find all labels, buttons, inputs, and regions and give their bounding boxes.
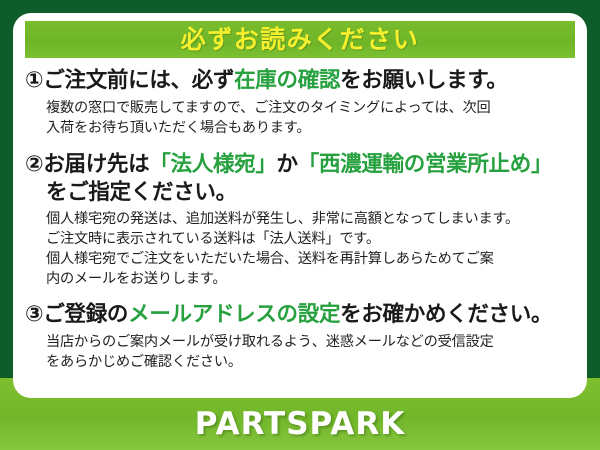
notice-item-1-head-part-3: をお願いします。 bbox=[340, 68, 507, 93]
notice-item-1-number: ① bbox=[25, 68, 43, 93]
notice-item-3-heading: ③ご登録のメールアドレスの設定をお確かめください。 bbox=[25, 301, 577, 329]
notice-item-2-body-line-1: 個人様宅宛の発送は、追加送料が発生し、非常に高額となってしまいます。 bbox=[46, 209, 577, 229]
notice-item-1-head-part-1: ご注文前には、必ず bbox=[43, 68, 234, 93]
notice-item-3-head-part-1: ご登録の bbox=[43, 302, 128, 327]
notice-item-2-head-highlight-2: 「西濃運輸の営業所止め」 bbox=[298, 152, 552, 177]
notice-item-2-body-line-4: 内のメールをお送りします。 bbox=[46, 269, 577, 289]
notice-item-2-heading: ②お届け先は「法人様宛」か「西濃運輸の営業所止め」 をご指定ください。 bbox=[25, 151, 577, 206]
notice-item-3: ③ご登録のメールアドレスの設定をお確かめください。 当店からのご案内メールが受け… bbox=[25, 301, 577, 372]
notice-item-2-body: 個人様宅宛の発送は、追加送料が発生し、非常に高額となってしまいます。 ご注文時に… bbox=[25, 209, 577, 290]
notice-item-1: ①ご注文前には、必ず在庫の確認をお願いします。 複数の窓口で販売してますので、ご… bbox=[25, 67, 577, 138]
page-title: 必ずお読みください bbox=[181, 27, 420, 52]
notice-card: 必ずお読みください ①ご注文前には、必ず在庫の確認をお願いします。 複数の窓口で… bbox=[13, 13, 587, 398]
notice-content: ①ご注文前には、必ず在庫の確認をお願いします。 複数の窓口で販売してますので、ご… bbox=[13, 65, 587, 374]
notice-item-2-body-line-2: ご注文時に表示されている送料は「法人送料」です。 bbox=[46, 229, 577, 249]
notice-item-2-number: ② bbox=[25, 152, 43, 177]
notice-item-1-body-line-1: 複数の窓口で販売してますので、ご注文のタイミングによっては、次回 bbox=[46, 98, 577, 118]
notice-item-1-body-line-2: 入荷をお待ち頂いただく場合もあります。 bbox=[46, 118, 577, 138]
notice-item-3-body: 当店からのご案内メールが受け取れるよう、迷惑メールなどの受信設定 をあらかじめご… bbox=[25, 332, 577, 372]
notice-item-3-body-line-2: をあらかじめご確認ください。 bbox=[46, 352, 577, 372]
notice-item-2-body-line-3: 個人様宅宛でご注文をいただいた場合、送料を再計算しあらためてご案 bbox=[46, 249, 577, 269]
notice-banner: 必ずお読みください ①ご注文前には、必ず在庫の確認をお願いします。 複数の窓口で… bbox=[0, 0, 600, 450]
notice-item-2-heading-line-2: をご指定ください。 bbox=[25, 179, 577, 206]
header-bar: 必ずお読みください bbox=[25, 21, 575, 58]
notice-item-3-head-highlight: メールアドレスの設定 bbox=[128, 302, 340, 327]
notice-item-2-head-part-1: お届け先は bbox=[43, 152, 149, 177]
partspark-logo: PARTSPARK bbox=[195, 406, 406, 442]
notice-item-3-body-line-1: 当店からのご案内メールが受け取れるよう、迷惑メールなどの受信設定 bbox=[46, 332, 577, 352]
notice-item-1-body: 複数の窓口で販売してますので、ご注文のタイミングによっては、次回 入荷をお待ち頂… bbox=[25, 98, 577, 138]
footer-logo-area: PARTSPARK bbox=[0, 398, 600, 450]
notice-item-1-head-highlight: 在庫の確認 bbox=[234, 68, 340, 93]
notice-item-3-number: ③ bbox=[25, 302, 43, 327]
notice-item-1-heading: ①ご注文前には、必ず在庫の確認をお願いします。 bbox=[25, 67, 577, 95]
notice-item-2-head-highlight-1: 「法人様宛」 bbox=[149, 152, 276, 177]
notice-item-2: ②お届け先は「法人様宛」か「西濃運輸の営業所止め」 をご指定ください。 個人様宅… bbox=[25, 151, 577, 289]
notice-item-2-head-part-3: か bbox=[277, 152, 298, 177]
notice-item-3-head-part-3: をお確かめください。 bbox=[340, 302, 552, 327]
